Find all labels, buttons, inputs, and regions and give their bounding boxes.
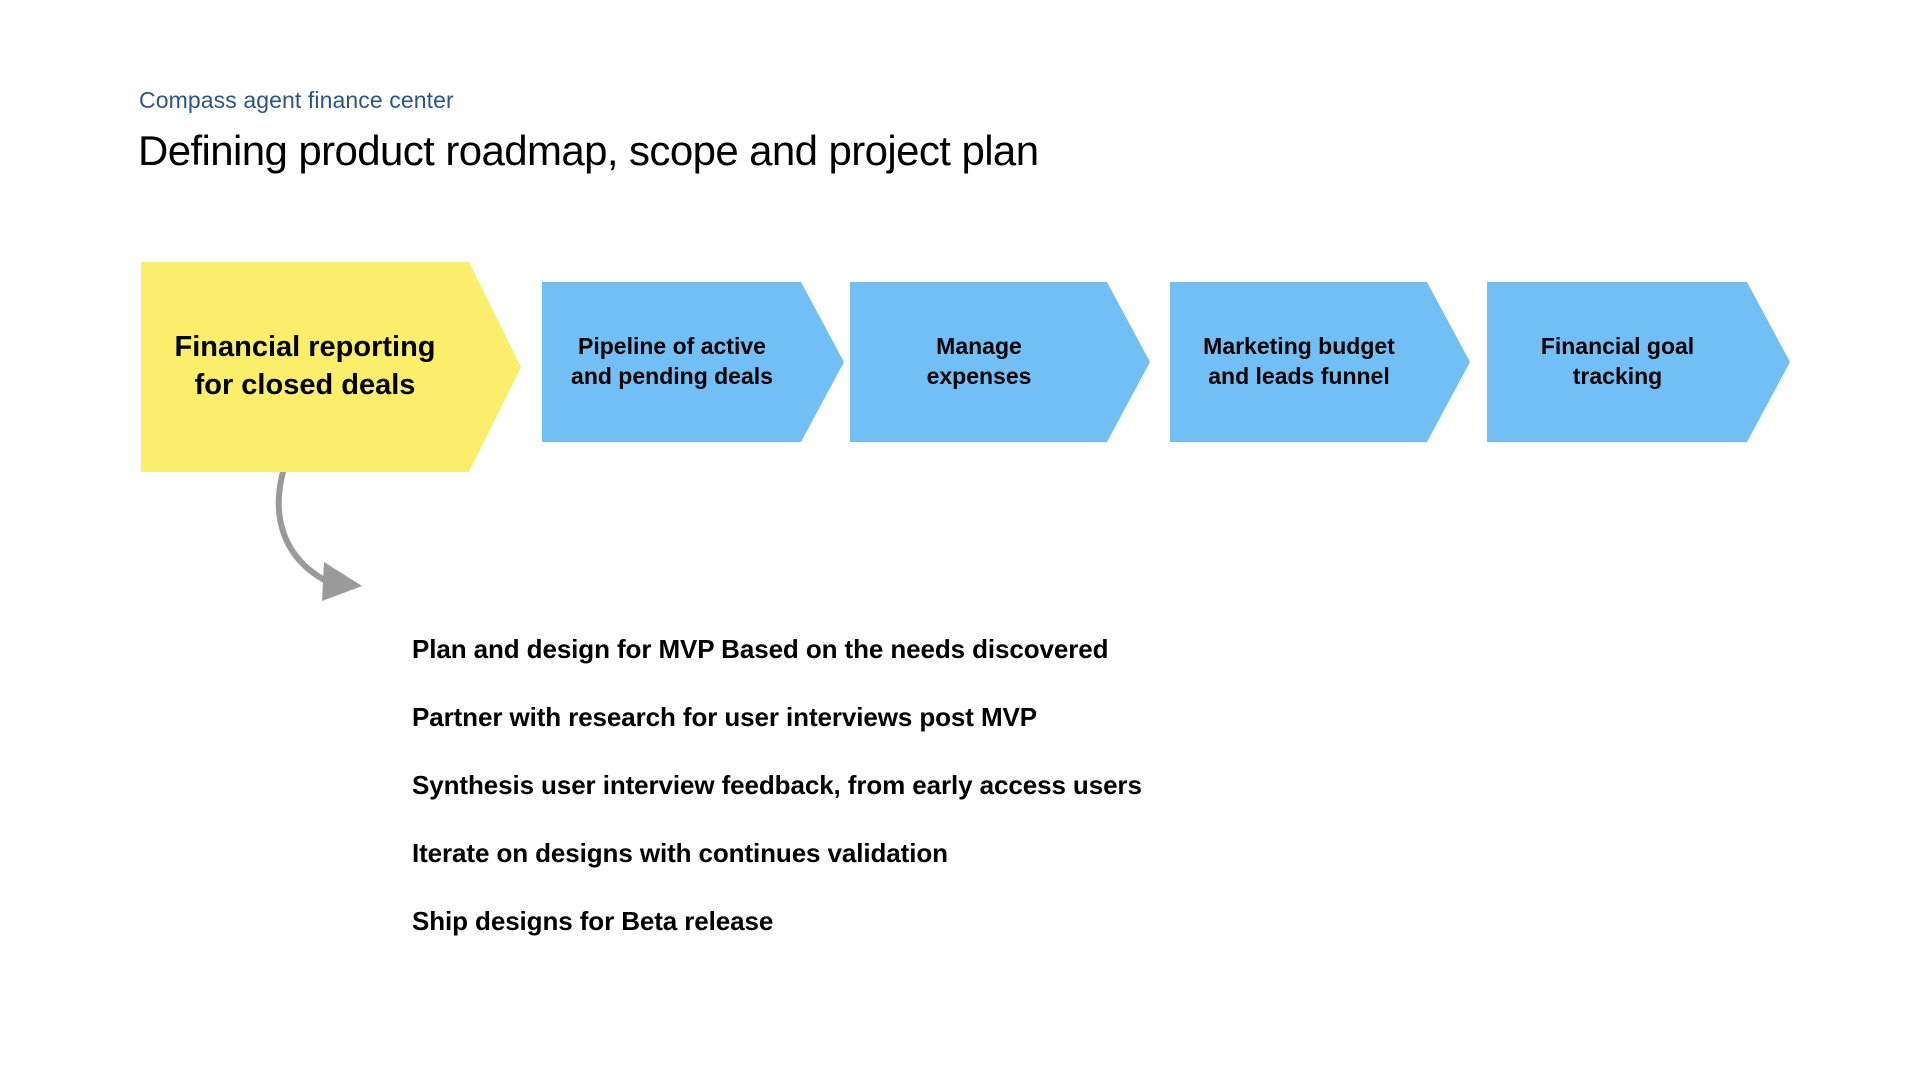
process-step-pipeline-of-active-and-pending-deals[interactable]: Pipeline of active and pending deals [542,282,844,442]
process-step-label: Marketing budget and leads funnel [1203,332,1437,392]
list-item: Plan and design for MVP Based on the nee… [412,632,1612,700]
curved-arrow-icon [250,462,410,622]
list-item: Synthesis user interview feedback, from … [412,768,1612,836]
list-item: Iterate on designs with continues valida… [412,836,1612,904]
process-step-label: Pipeline of active and pending deals [571,332,815,392]
process-step-financial-goal-tracking[interactable]: Financial goal tracking [1487,282,1790,442]
process-step-label: Financial goal tracking [1541,332,1736,392]
process-step-financial-reporting[interactable]: Financial reporting for closed deals [141,262,521,472]
plan-notes-list: Plan and design for MVP Based on the nee… [412,632,1612,972]
list-item: Ship designs for Beta release [412,904,1612,972]
process-step-label: Manage expenses [927,332,1074,392]
process-step-marketing-budget-and-leads-funnel[interactable]: Marketing budget and leads funnel [1170,282,1470,442]
slide-eyebrow-label: Compass agent finance center [139,87,454,114]
slide-canvas: Compass agent finance center Defining pr… [0,0,1920,1080]
page-title: Defining product roadmap, scope and proj… [138,127,1038,175]
list-item: Partner with research for user interview… [412,700,1612,768]
process-step-label: Financial reporting for closed deals [174,329,487,404]
process-step-manage-expenses[interactable]: Manage expenses [850,282,1150,442]
